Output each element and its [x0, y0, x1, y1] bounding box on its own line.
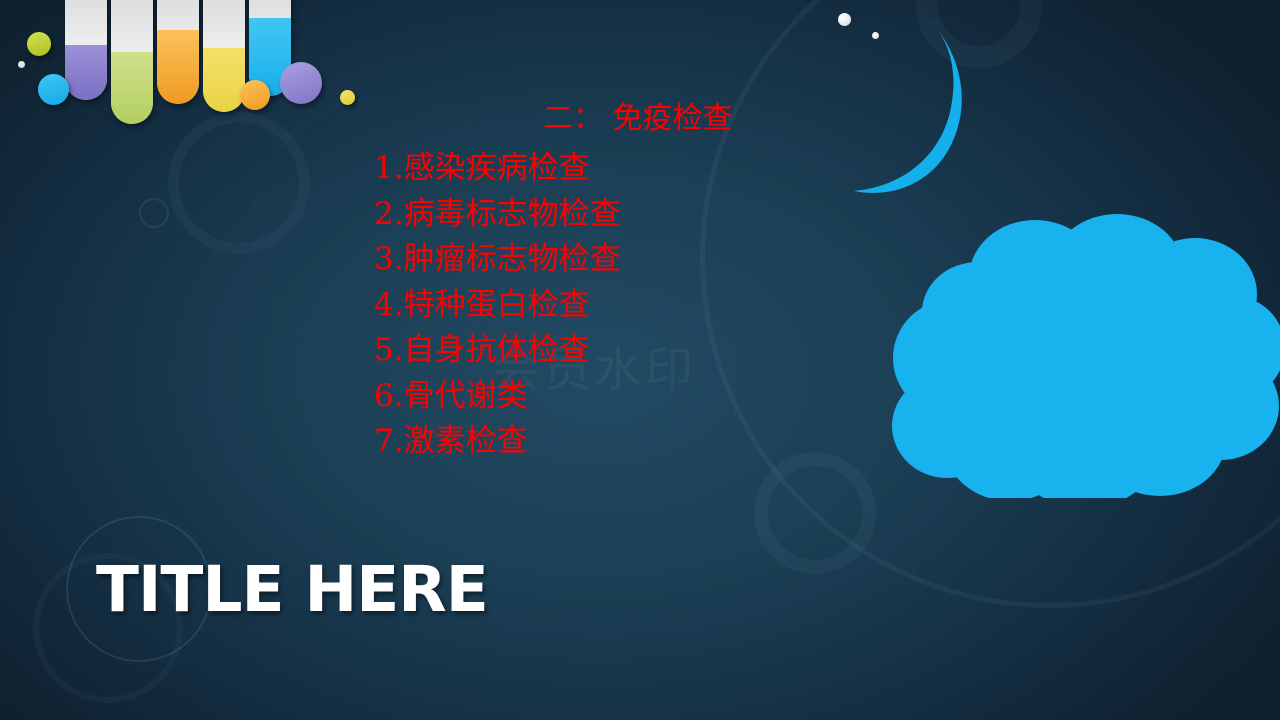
list-item-number: 5. [374, 332, 404, 368]
test-tube-yellow-fluid [203, 48, 245, 112]
cloud-shape [835, 208, 1280, 498]
section-heading: 二： 免疫检查 [543, 102, 733, 136]
list-item: 6.骨代谢类 [374, 374, 621, 420]
list-item-label: 特种蛋白检查 [404, 287, 590, 323]
list-item-number: 7. [374, 423, 404, 459]
dot-lime [27, 32, 51, 56]
list-item-number: 2. [374, 196, 404, 232]
test-tube-orange-fluid [157, 30, 199, 104]
cloud-icon [835, 208, 1280, 498]
presentation-slide: 会员水印 二： 免疫检查 1.感染疾病检查2.病毒标志物检查3.肿瘤标志物检查4… [0, 0, 1280, 720]
moon-group [810, 0, 1040, 215]
bullet-list: 1.感染疾病检查2.病毒标志物检查3.肿瘤标志物检查4.特种蛋白检查5.自身抗体… [374, 146, 621, 465]
test-tube-green [111, 0, 153, 124]
list-item: 7.激素检查 [374, 419, 621, 465]
list-item-label: 病毒标志物检查 [404, 196, 621, 232]
list-item-label: 骨代谢类 [404, 378, 528, 414]
dot-white-small [18, 61, 25, 68]
star-large-icon [838, 13, 851, 26]
list-item: 4.特种蛋白检查 [374, 283, 621, 329]
list-item-number: 1. [374, 150, 404, 186]
slide-title: TITLE HERE [96, 553, 488, 626]
dot-purple [280, 62, 322, 104]
test-tube-purple [65, 0, 107, 100]
test-tube-purple-fluid [65, 45, 107, 100]
list-item-label: 感染疾病检查 [404, 150, 590, 186]
list-item-label: 激素检查 [404, 423, 528, 459]
list-item: 2.病毒标志物检查 [374, 192, 621, 238]
bg-ring-tiny-left [139, 198, 169, 228]
list-item-number: 4. [374, 287, 404, 323]
list-item: 5.自身抗体检查 [374, 328, 621, 374]
crescent-moon-icon [810, 0, 1040, 215]
list-item-number: 6. [374, 378, 404, 414]
test-tube-yellow [203, 0, 245, 112]
star-small-icon [872, 32, 879, 39]
bg-ring-upper-left [168, 112, 310, 254]
dot-cyan [38, 74, 69, 105]
list-item-label: 自身抗体检查 [404, 332, 590, 368]
test-tube-orange [157, 0, 199, 104]
list-item: 3.肿瘤标志物检查 [374, 237, 621, 283]
list-item: 1.感染疾病检查 [374, 146, 621, 192]
list-item-number: 3. [374, 241, 404, 277]
list-item-label: 肿瘤标志物检查 [404, 241, 621, 277]
dot-yellow-small [340, 90, 355, 105]
dot-orange [240, 80, 270, 110]
test-tube-green-fluid [111, 52, 153, 124]
